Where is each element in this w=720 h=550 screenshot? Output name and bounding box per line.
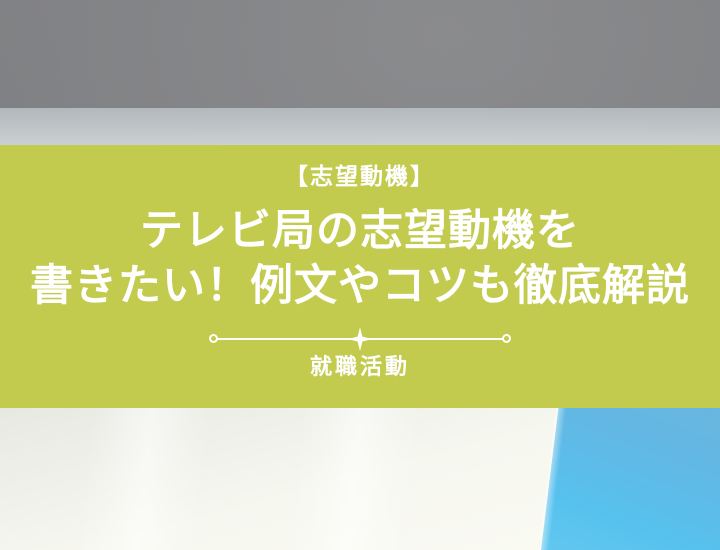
banner-canvas: 【志望動機】 テレビ局の志望動機を 書きたい！例文やコツも徹底解説 就職活動 <box>0 0 720 550</box>
page-title-line-2: 書きたい！例文やコツも徹底解説 <box>30 259 690 314</box>
page-title: テレビ局の志望動機を 書きたい！例文やコツも徹底解説 <box>30 204 690 314</box>
category-footer-label: 就職活動 <box>310 356 410 378</box>
page-title-line-1: テレビ局の志望動機を <box>30 204 690 259</box>
divider-circle-left-icon <box>209 334 218 343</box>
category-eyebrow: 【志望動機】 <box>285 165 435 188</box>
divider-circle-right-icon <box>502 334 511 343</box>
title-band-content: 【志望動機】 テレビ局の志望動機を 書きたい！例文やコツも徹底解説 就職活動 <box>0 145 720 408</box>
ornamental-divider <box>209 328 511 350</box>
divider-diamond-icon <box>348 327 372 351</box>
title-band: 【志望動機】 テレビ局の志望動機を 書きたい！例文やコツも徹底解説 就職活動 <box>0 145 720 408</box>
